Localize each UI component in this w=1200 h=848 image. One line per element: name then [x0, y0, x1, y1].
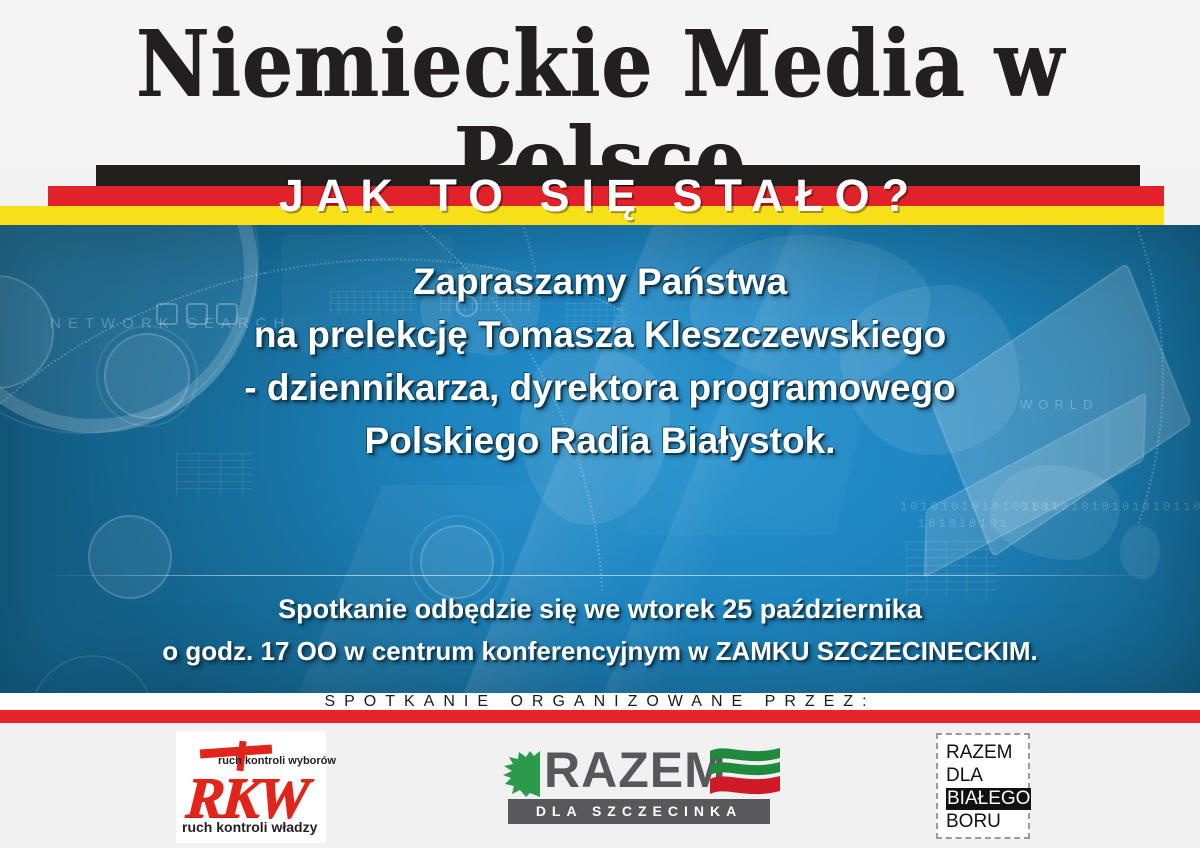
rdbb-line-3-wrap: BIAŁEGO	[946, 787, 1020, 810]
detail-line-2: o godz. 17 OO w centrum konferencyjnym w…	[0, 630, 1200, 672]
event-details: Spotkanie odbędzie się we wtorek 25 paźd…	[0, 588, 1200, 672]
logo-razem-dla-szczecinka[interactable]: RAZEM DLA SZCZECINKA	[498, 745, 780, 827]
main-line-1: Zapraszamy Państwa	[0, 255, 1200, 308]
banner-headline: JAK TO SIĘ STAŁO?	[0, 165, 1200, 227]
content-divider	[40, 575, 1160, 576]
logo-rkw[interactable]: ruch kontroli wyborów RKW ruch kontroli …	[176, 731, 326, 843]
poster-root: Niemieckie Media w Polsce JAK TO SIĘ STA…	[0, 0, 1200, 848]
polish-wave-flag-icon	[708, 745, 782, 797]
razem-subtitle: DLA SZCZECINKA	[508, 799, 770, 824]
footer-logos: ruch kontroli wyborów RKW ruch kontroli …	[0, 723, 1200, 848]
logo-razem-dla-bialego-boru[interactable]: RAZEM DLA BIAŁEGO BORU	[936, 733, 1030, 839]
main-line-2: na prelekcję Tomasza Kleszczewskiego	[0, 308, 1200, 361]
razem-subtitle-bar: DLA SZCZECINKA	[508, 799, 770, 824]
razem-wordmark: RAZEM	[544, 745, 727, 795]
main-line-3: - dziennikarza, dyrektora programowego	[0, 361, 1200, 414]
organizer-label: SPOTKANIE ORGANIZOWANE PRZEZ:	[0, 690, 1200, 714]
rdbb-line-4: BORU	[946, 810, 1020, 833]
main-line-4: Polskiego Radia Białystok.	[0, 414, 1200, 467]
oak-leaf-icon	[500, 749, 550, 799]
rdbb-line-1: RAZEM	[946, 741, 1020, 764]
rkw-bottom-text: ruch kontroli władzy	[182, 819, 317, 835]
detail-line-1: Spotkanie odbędzie się we wtorek 25 paźd…	[0, 588, 1200, 630]
rdbb-line-2: DLA	[946, 764, 1020, 787]
rdbb-line-3: BIAŁEGO	[946, 788, 1031, 810]
main-copy: Zapraszamy Państwa na prelekcję Tomasza …	[0, 255, 1200, 467]
